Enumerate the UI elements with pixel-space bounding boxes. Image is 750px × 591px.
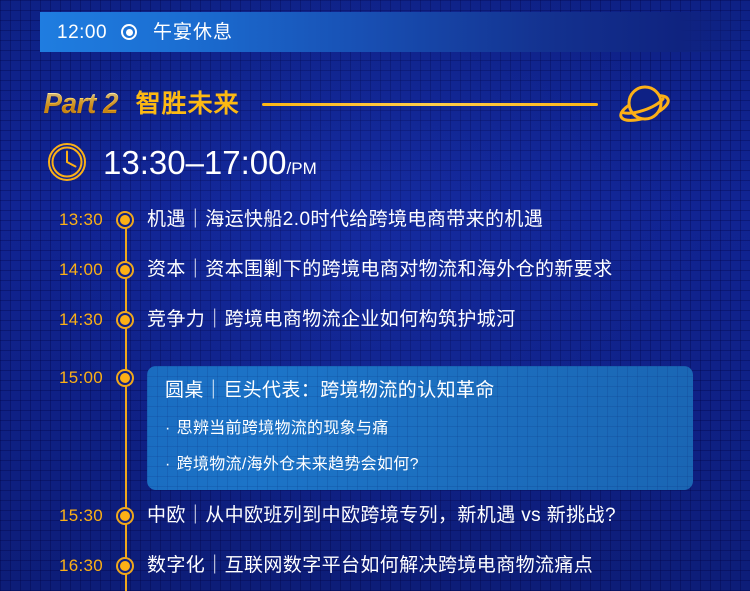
agenda-row-time: 15:30 (0, 504, 103, 528)
part-header: Part 2 智胜未来 (0, 78, 750, 130)
roundtable-bullet: ·跨境物流/海外仓未来趋势会如何? (165, 454, 675, 476)
timeline-node (103, 208, 147, 229)
agenda-row[interactable]: 15:30 中欧｜从中欧班列到中欧跨境专列，新机遇 vs 新挑战? (0, 504, 750, 528)
agenda-row[interactable]: 14:30 竞争力｜跨境电商物流企业如何构筑护城河 (0, 308, 750, 332)
timeline-dot-icon (116, 507, 134, 525)
roundtable-panel[interactable]: 圆桌｜巨头代表：跨境物流的认知革命 ·思辨当前跨境物流的现象与痛 ·跨境物流/海… (147, 366, 693, 490)
session-time-value: 13:30–17:00 (103, 144, 287, 181)
bullet-marker-icon: · (165, 456, 171, 473)
lunch-break-time: 12:00 (57, 23, 107, 42)
agenda-row-title: 竞争力｜跨境电商物流企业如何构筑护城河 (147, 308, 750, 332)
agenda-row-title: 中欧｜从中欧班列到中欧跨境专列，新机遇 vs 新挑战? (147, 504, 750, 528)
session-time-range: 13:30–17:00/PM (103, 146, 317, 179)
roundtable-panel-title: 圆桌｜巨头代表：跨境物流的认知革命 (165, 378, 675, 404)
agenda-row-time: 16:30 (0, 554, 103, 578)
part-subtitle: 智胜未来 (136, 92, 240, 117)
agenda-row-time: 15:00 (0, 366, 103, 390)
session-time-suffix: /PM (287, 159, 317, 178)
agenda-row-time: 14:00 (0, 258, 103, 282)
clock-icon (47, 142, 87, 182)
agenda-row-time: 13:30 (0, 208, 103, 232)
agenda-row[interactable]: 13:30 机遇｜海运快船2.0时代给跨境电商带来的机遇 (0, 208, 750, 232)
saturn-planet-icon (616, 78, 672, 130)
agenda-row-title: 资本｜资本围剿下的跨境电商对物流和海外仓的新要求 (147, 258, 750, 282)
agenda-row[interactable]: 14:00 资本｜资本围剿下的跨境电商对物流和海外仓的新要求 (0, 258, 750, 282)
roundtable-bullet-text: 思辨当前跨境物流的现象与痛 (177, 420, 389, 437)
agenda-row-highlighted[interactable]: 15:00 圆桌｜巨头代表：跨境物流的认知革命 ·思辨当前跨境物流的现象与痛 ·… (0, 366, 750, 490)
lunch-break-banner: 12:00 午宴休息 (40, 12, 750, 52)
timeline-dot-icon (116, 311, 134, 329)
timeline-node (103, 308, 147, 329)
timeline-node (103, 258, 147, 279)
roundtable-bullet: ·思辨当前跨境物流的现象与痛 (165, 418, 675, 440)
session-time-row: 13:30–17:00/PM (0, 136, 750, 188)
timeline-node (103, 366, 147, 387)
bullet-marker-icon: · (165, 420, 171, 437)
agenda-row-title: 数字化｜互联网数字平台如何解决跨境电商物流痛点 (147, 554, 750, 578)
timeline-dot-icon (116, 557, 134, 575)
radio-dot-icon (121, 24, 137, 40)
timeline-dot-icon (116, 261, 134, 279)
agenda-row-time: 14:30 (0, 308, 103, 332)
part-number: Part 2 (44, 90, 119, 119)
agenda-row-title: 机遇｜海运快船2.0时代给跨境电商带来的机遇 (147, 208, 750, 232)
lunch-break-label: 午宴休息 (153, 23, 233, 42)
agenda-slide: 12:00 午宴休息 Part 2 智胜未来 13:30–17:00/PM (0, 0, 750, 591)
header-divider-line (262, 103, 598, 106)
agenda-timeline: 13:30 机遇｜海运快船2.0时代给跨境电商带来的机遇 14:00 资本｜资本… (0, 196, 750, 591)
timeline-node (103, 554, 147, 575)
agenda-row[interactable]: 16:30 数字化｜互联网数字平台如何解决跨境电商物流痛点 (0, 554, 750, 578)
timeline-dot-icon (116, 369, 134, 387)
timeline-node (103, 504, 147, 525)
timeline-dot-icon (116, 211, 134, 229)
roundtable-bullet-text: 跨境物流/海外仓未来趋势会如何? (177, 456, 419, 473)
